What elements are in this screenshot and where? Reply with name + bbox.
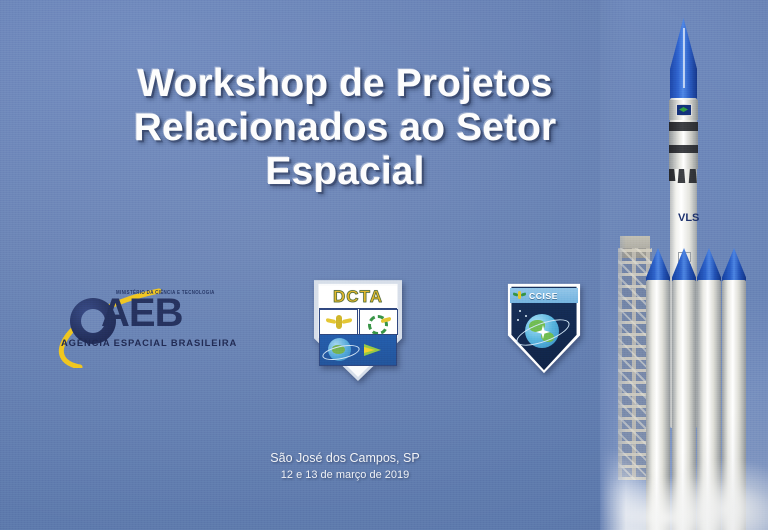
dcta-quadrant-gear bbox=[359, 309, 398, 335]
ccise-wing-icon bbox=[513, 291, 526, 300]
arrow-dart-icon bbox=[364, 344, 381, 356]
rocket-vls-label: VLS bbox=[678, 212, 692, 224]
page-title: Workshop de Projetos Relacionados ao Set… bbox=[40, 62, 650, 194]
dcta-title-band: DCTA bbox=[319, 286, 397, 309]
rocket-band-lower bbox=[669, 153, 698, 169]
sponsor-logos-row: MINISTÉRIO DA CIÊNCIA E TECNOLOGIA AEB A… bbox=[30, 278, 620, 383]
presentation-title-slide: VLS Workshop de Projetos Relacionados ao… bbox=[0, 0, 768, 530]
winged-emblem-icon bbox=[326, 315, 352, 330]
ccise-shield: CCISE bbox=[503, 282, 585, 374]
title-line-1: Workshop de Projetos bbox=[40, 62, 650, 106]
rocket-band-mid bbox=[669, 131, 698, 145]
aeb-full-name: AGÊNCIA ESPACIAL BRASILEIRA bbox=[61, 337, 237, 348]
dcta-quadrant-wings bbox=[319, 309, 358, 335]
brazil-flag-decal-icon bbox=[676, 104, 692, 116]
logo-ccise: CCISE bbox=[503, 282, 585, 374]
logo-aeb: MINISTÉRIO DA CIÊNCIA E TECNOLOGIA AEB A… bbox=[44, 284, 234, 370]
title-line-3: Espacial bbox=[40, 150, 650, 194]
dcta-globe-band bbox=[319, 334, 397, 366]
event-location: São José dos Campos, SP bbox=[40, 450, 650, 467]
dcta-acronym: DCTA bbox=[333, 287, 383, 307]
logo-dcta: DCTA bbox=[308, 278, 408, 382]
star-icon-3 bbox=[517, 319, 519, 321]
event-date: 12 e 13 de março de 2019 bbox=[40, 467, 650, 483]
event-caption: São José dos Campos, SP 12 e 13 de março… bbox=[40, 450, 650, 483]
rocket-band-dark-2 bbox=[669, 145, 698, 153]
rocket-band-dark-1 bbox=[669, 122, 698, 131]
dcta-shield: DCTA bbox=[308, 278, 408, 382]
title-line-2: Relacionados ao Setor bbox=[40, 106, 650, 150]
ccise-acronym: CCISE bbox=[529, 291, 558, 301]
star-icon-2 bbox=[525, 315, 527, 317]
winged-gear-icon bbox=[367, 313, 391, 331]
ccise-header-band: CCISE bbox=[510, 288, 578, 303]
aeb-acronym: AEB bbox=[101, 293, 182, 333]
star-icon-1 bbox=[519, 310, 521, 312]
